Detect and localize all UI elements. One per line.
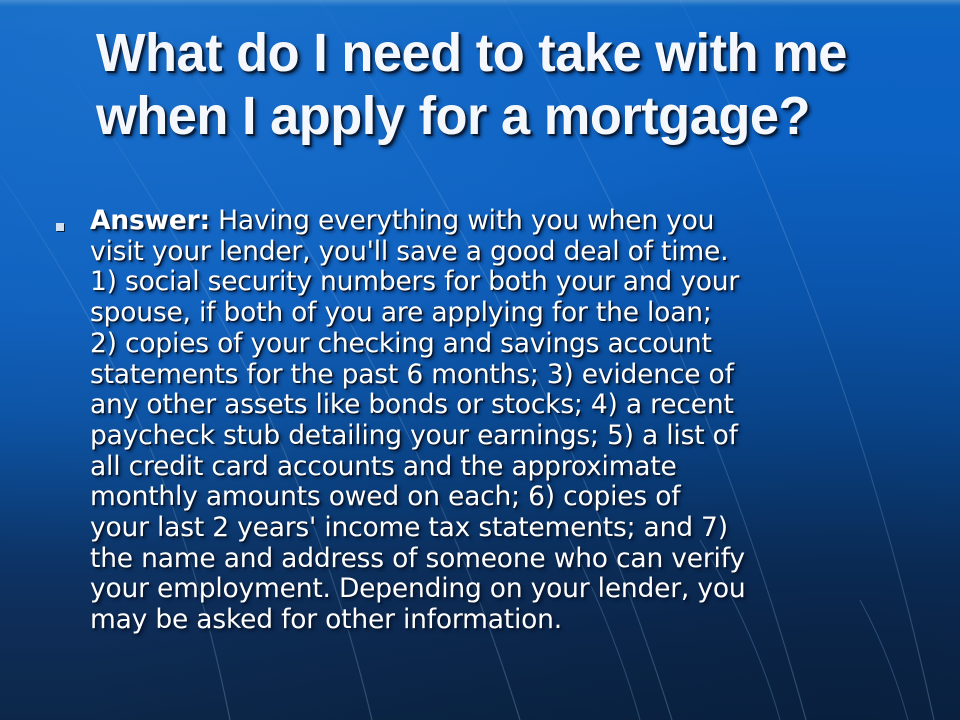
slide-title: What do I need to take with me when I ap…	[96, 22, 896, 148]
body-line: your employment. Depending on your lende…	[90, 574, 936, 605]
presentation-slide: What do I need to take with me when I ap…	[0, 0, 960, 720]
body-line: spouse, if both of you are applying for …	[90, 298, 936, 329]
body-line: your last 2 years' income tax statements…	[90, 513, 936, 544]
square-bullet-icon	[56, 223, 64, 231]
body-line: paycheck stub detailing your earnings; 5…	[90, 421, 936, 452]
body-line: 2) copies of your checking and savings a…	[90, 329, 936, 360]
body-line: the name and address of someone who can …	[90, 544, 936, 575]
body-line-text-1: Having everything with you when you	[210, 205, 714, 236]
slide-body-text: Answer: Having everything with you when …	[90, 206, 936, 636]
body-line: monthly amounts owed on each; 6) copies …	[90, 482, 936, 513]
body-line: statements for the past 6 months; 3) evi…	[90, 360, 936, 391]
body-line: visit your lender, you'll save a good de…	[90, 237, 936, 268]
body-line: any other assets like bonds or stocks; 4…	[90, 390, 936, 421]
body-line: 1) social security numbers for both your…	[90, 267, 936, 298]
body-line: Answer: Having everything with you when …	[90, 206, 936, 237]
body-line: may be asked for other information.	[90, 605, 936, 636]
top-highlight-band	[0, 0, 960, 7]
slide-title-line-1: What do I need to take with me	[96, 22, 872, 85]
slide-body: Answer: Having everything with you when …	[56, 206, 936, 636]
body-line: all credit card accounts and the approxi…	[90, 452, 936, 483]
answer-label: Answer:	[90, 205, 210, 236]
slide-title-line-2: when I apply for a mortgage?	[96, 85, 872, 148]
